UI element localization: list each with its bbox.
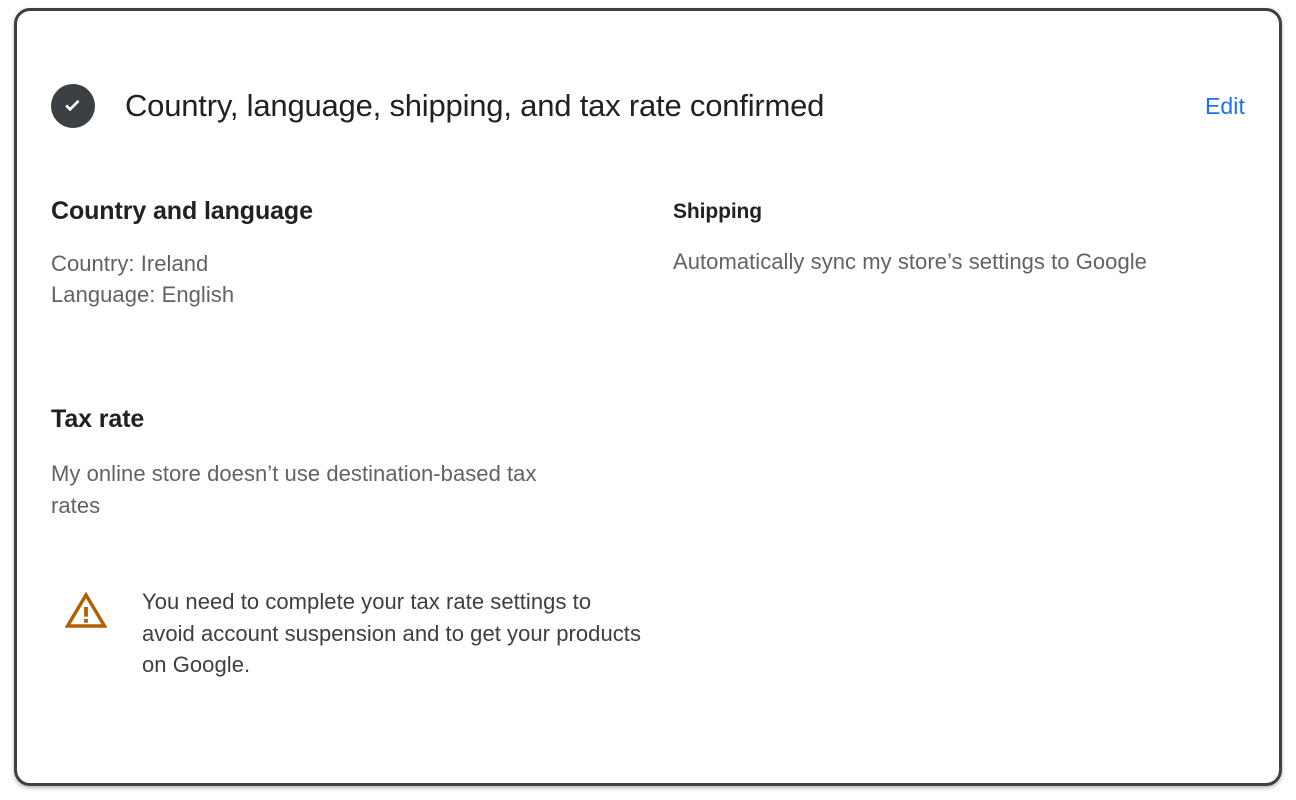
card-header: Country, language, shipping, and tax rat…	[51, 83, 1245, 129]
warning-triangle-icon	[65, 591, 107, 629]
shipping-heading: Shipping	[673, 199, 1233, 224]
tax-rate-description: My online store doesn’t use destination-…	[51, 458, 591, 522]
shipping-description: Automatically sync my store’s settings t…	[673, 246, 1213, 277]
tax-rate-warning: You need to complete your tax rate setti…	[65, 586, 645, 681]
country-language-section: Country and language Country: Ireland La…	[51, 196, 673, 310]
page-title: Country, language, shipping, and tax rat…	[125, 89, 824, 123]
edit-button[interactable]: Edit	[1205, 93, 1245, 120]
country-language-heading: Country and language	[51, 196, 673, 226]
country-value: Country: Ireland	[51, 248, 673, 279]
country-language-details: Country: Ireland Language: English	[51, 248, 673, 310]
confirmation-card: Country, language, shipping, and tax rat…	[14, 8, 1282, 786]
language-value: Language: English	[51, 279, 673, 310]
warning-message: You need to complete your tax rate setti…	[142, 586, 642, 681]
screen: Country, language, shipping, and tax rat…	[0, 0, 1296, 800]
tax-rate-section: Tax rate My online store doesn’t use des…	[51, 404, 673, 522]
shipping-section: Shipping Automatically sync my store’s s…	[673, 196, 1233, 277]
tax-rate-heading: Tax rate	[51, 404, 673, 434]
card-body: Country and language Country: Ireland La…	[51, 196, 1245, 310]
check-circle-icon	[51, 84, 95, 128]
